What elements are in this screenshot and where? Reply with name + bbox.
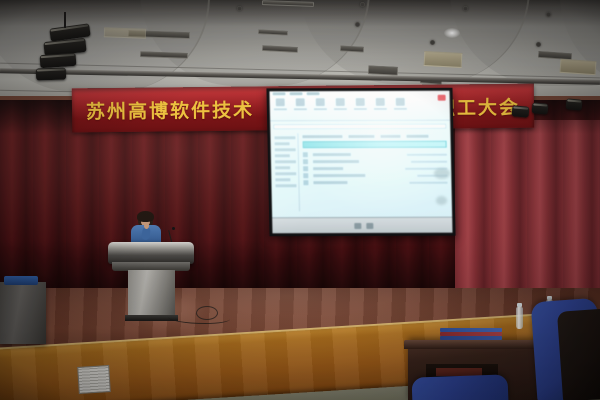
ribbon-group: [354, 98, 367, 110]
ceiling-downlight-icon: [430, 40, 435, 45]
ceiling-panel: [104, 27, 146, 38]
stage-light-icon: [566, 98, 583, 110]
ceiling-panel: [424, 51, 463, 68]
stage-light-icon: [532, 102, 549, 114]
ceiling-vent: [340, 45, 364, 52]
ceiling-downlight-icon: [463, 6, 468, 11]
presenter-hand: [144, 223, 149, 229]
podium-column: [128, 270, 175, 318]
ceiling-light-glare: [444, 28, 460, 38]
auditorium-seat-back: [557, 308, 600, 400]
ribbon-group: [294, 98, 307, 110]
projected-file-list: [302, 135, 448, 211]
projected-nav-pane: [272, 133, 300, 211]
bottle-cap: [517, 303, 522, 307]
presenter-hair: [137, 211, 154, 222]
stage-light-icon: [40, 53, 77, 68]
projected-app-tabs: [273, 92, 320, 95]
stage-monitor-speaker: [0, 282, 46, 344]
wall-fixture: [436, 196, 447, 205]
projected-list-row: [303, 179, 447, 187]
floor-cable-loop: [196, 306, 218, 320]
ribbon-group: [314, 98, 327, 110]
ribbon-group: [394, 98, 407, 110]
projected-selected-row: [303, 141, 447, 149]
stage-light-yoke: [64, 12, 66, 28]
banner-text-left: 苏州高博软件技术: [86, 95, 254, 124]
projection-screen: [269, 91, 452, 234]
podium-top: [108, 242, 194, 264]
ribbon-group: [274, 98, 287, 110]
equipment-case: [4, 276, 38, 285]
projected-tab: [307, 92, 320, 95]
stage-light-icon: [512, 105, 530, 117]
stage-curtain-right: [455, 120, 600, 305]
projected-ribbon: [274, 98, 428, 111]
book: [440, 336, 502, 340]
ribbon-group: [374, 98, 387, 110]
stage-light-icon: [36, 67, 66, 80]
bottle-cap: [547, 296, 552, 300]
ceiling-downlight-icon: [546, 12, 551, 17]
auditorium-seat: [412, 374, 509, 400]
projected-app-toolbar: [269, 91, 450, 122]
taskbar-button: [354, 223, 361, 229]
ceiling-downlight-icon: [355, 22, 360, 27]
water-bottle: [516, 307, 523, 329]
projected-tab: [273, 92, 286, 95]
projected-list-header: [302, 135, 446, 139]
taskbar-button: [366, 223, 373, 229]
projected-address-bar: [273, 124, 446, 130]
projected-tab: [290, 92, 303, 95]
stacked-books: [440, 328, 502, 341]
ceiling-downlight-icon: [536, 42, 541, 47]
ribbon-group: [334, 98, 347, 110]
ceiling-downlight-icon: [360, 2, 365, 7]
wall-fixture: [434, 168, 450, 179]
front-desk-surface: [404, 340, 544, 349]
ceiling-downlight-icon: [237, 6, 242, 11]
ceiling-vent: [368, 65, 398, 76]
close-icon: [438, 95, 446, 101]
projection-screen-frame: [266, 88, 455, 237]
floor-air-vent: [77, 365, 111, 394]
projected-taskbar: [272, 217, 452, 234]
microphone-icon: [172, 227, 175, 230]
ceiling-panel: [560, 59, 597, 75]
auditorium-photo: 苏州高博软件技术 学期教职工大会: [0, 0, 600, 400]
